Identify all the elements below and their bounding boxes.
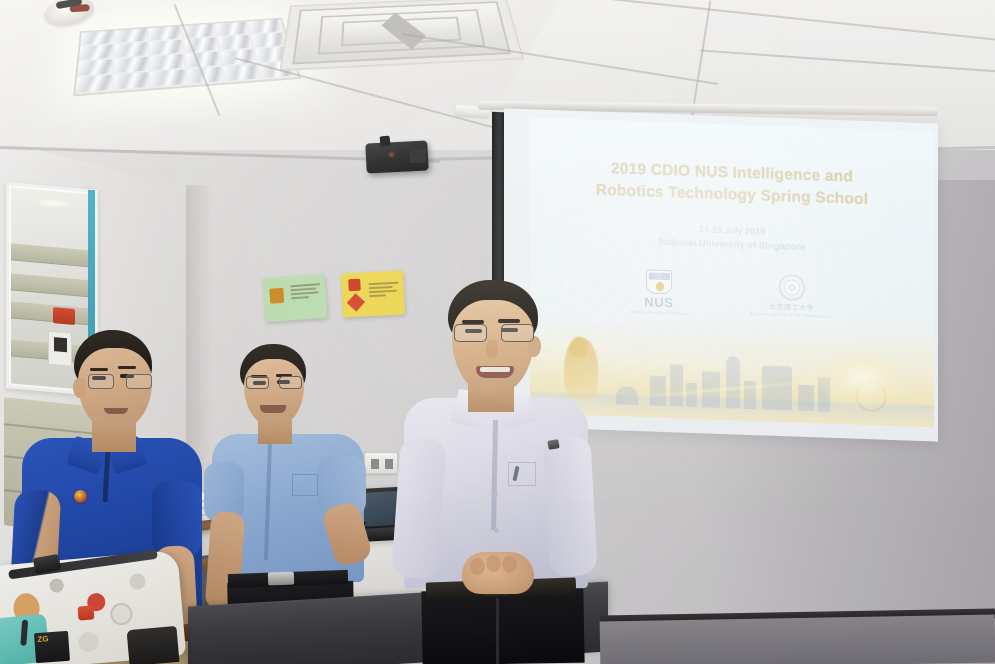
chinese-university-logo: 北京理工大学 BEIJING INSTITUTE OF TECHNOLOGY xyxy=(750,273,834,319)
floor-area xyxy=(600,615,995,664)
projector-icon xyxy=(365,140,428,173)
nus-tagline: National University of Singapore xyxy=(630,310,688,317)
shirt-pocket xyxy=(508,462,536,486)
nus-logo: NUS National University of Singapore xyxy=(630,269,688,317)
eyeglasses-icon xyxy=(454,324,534,343)
lapel-pin-icon xyxy=(74,490,87,503)
right-sleeve xyxy=(542,435,597,577)
nus-wordmark: NUS xyxy=(630,295,688,310)
face xyxy=(244,359,304,427)
ear xyxy=(73,378,86,398)
slide-subtitle: 21-29 July 2019 National University of S… xyxy=(530,217,934,259)
slide-title: 2019 CDIO NUS Intelligence and Robotics … xyxy=(530,155,934,214)
circular-crest-icon xyxy=(779,274,805,301)
face xyxy=(452,300,534,394)
trouser-crease xyxy=(496,598,499,664)
eyeglasses-icon xyxy=(88,374,154,390)
sign-icon xyxy=(348,279,361,292)
shirt-pocket xyxy=(292,474,318,496)
belt-buckle xyxy=(268,572,294,586)
window-lamp-icon xyxy=(31,195,75,211)
clasped-hands xyxy=(462,552,534,594)
person-foreground xyxy=(396,280,596,664)
backpack-buckle xyxy=(547,439,559,450)
bag-logo-icon xyxy=(78,605,95,620)
projector-mount xyxy=(380,136,391,147)
air-vent-icon xyxy=(279,0,524,71)
shelf-board xyxy=(11,243,93,268)
green-notice-sign xyxy=(263,274,328,322)
presentation-photo: 2019 CDIO NUS Intelligence and Robotics … xyxy=(0,0,995,664)
dark-bag-object xyxy=(127,626,180,664)
bag-label: ZG xyxy=(34,631,70,663)
shelf-board xyxy=(11,301,93,326)
black-trousers xyxy=(421,589,584,664)
projector-lens-icon xyxy=(388,151,395,158)
red-object xyxy=(53,307,75,325)
eyeglasses-icon xyxy=(246,376,304,390)
nus-shield-icon xyxy=(646,269,672,294)
left-sleeve xyxy=(391,437,447,580)
shelf-board xyxy=(11,273,93,298)
sign-diamond-icon xyxy=(347,293,365,311)
sign-icon xyxy=(269,288,284,304)
